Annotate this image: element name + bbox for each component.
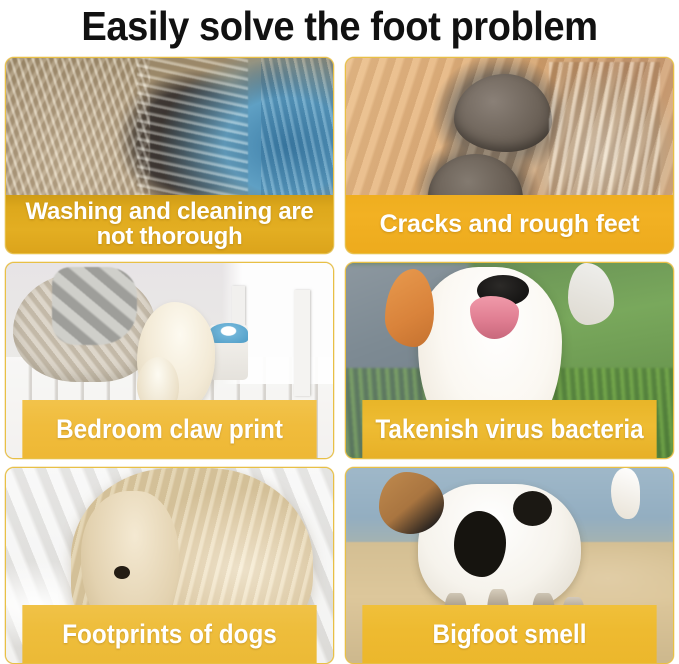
dog-spot-large — [454, 511, 506, 577]
corgi-ear-right — [568, 263, 614, 325]
caption-footprints-of-dogs: Footprints of dogs — [22, 605, 316, 663]
caption-text: Bedroom claw print — [56, 414, 283, 444]
panel-washing-and-cleaning[interactable]: Washing and cleaning are not thorough — [5, 57, 334, 254]
caption-takenish-virus-bacteria: Takenish virus bacteria — [362, 400, 656, 458]
caption-washing-and-cleaning: Washing and cleaning are not thorough — [6, 195, 333, 253]
caption-text: Cracks and rough feet — [380, 210, 640, 238]
panel-bigfoot-smell[interactable]: Bigfoot smell — [345, 467, 674, 664]
caption-text: Takenish virus bacteria — [375, 414, 643, 444]
table-leg-right — [294, 290, 310, 395]
panel-bedroom-claw-print[interactable]: Bedroom claw print — [5, 262, 334, 459]
panel-cracks-and-rough-feet[interactable]: Cracks and rough feet — [345, 57, 674, 254]
caption-bigfoot-smell: Bigfoot smell — [362, 605, 656, 663]
panel-grid: Washing and cleaning are not thorough Cr… — [5, 57, 674, 664]
caption-text: Footprints of dogs — [62, 619, 277, 649]
caption-text: Bigfoot smell — [433, 619, 587, 649]
infographic-page: Easily solve the foot problem Washing an… — [0, 0, 679, 664]
caption-bedroom-claw-print: Bedroom claw print — [22, 400, 316, 458]
dog-tail — [611, 468, 640, 519]
caption-cracks-and-rough-feet: Cracks and rough feet — [346, 195, 673, 253]
grey-blanket — [52, 267, 137, 345]
panel-footprints-of-dogs[interactable]: Footprints of dogs — [5, 467, 334, 664]
water-dispenser-cap — [209, 323, 248, 343]
caption-text: Washing and cleaning are not thorough — [14, 199, 325, 249]
page-title: Easily solve the foot problem — [24, 0, 655, 52]
panel-takenish-virus-bacteria[interactable]: Takenish virus bacteria — [345, 262, 674, 459]
